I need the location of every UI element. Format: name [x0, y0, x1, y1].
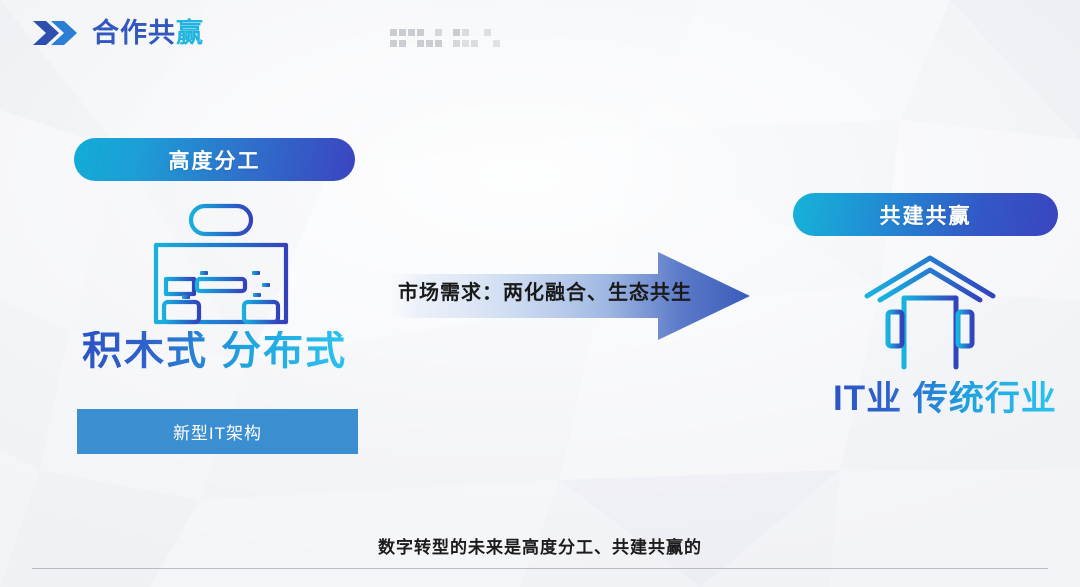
page-title: 合作共赢: [92, 20, 204, 47]
left-pill-badge[interactable]: 高度分工: [74, 138, 355, 181]
right-pill-badge[interactable]: 共建共赢: [793, 193, 1058, 236]
left-headline: 积木式 分布式: [82, 331, 347, 371]
right-headline: IT业 传统行业: [833, 381, 1057, 416]
left-architecture-badge[interactable]: 新型IT架构: [77, 409, 358, 454]
page-title-accent: 赢: [176, 18, 204, 48]
footer-divider: [32, 568, 1048, 569]
page-title-main: 合作共: [92, 18, 176, 48]
slide-canvas: 合作共赢 高度分: [0, 0, 1080, 587]
house-icon: [862, 254, 998, 372]
factory-building-icon: [148, 203, 294, 325]
footer-caption: 数字转型的未来是高度分工、共建共赢的: [0, 533, 1080, 558]
brand-lockup: 合作共赢: [32, 18, 204, 48]
pixel-dot-pattern-icon: [390, 29, 506, 49]
double-chevron-icon: [32, 18, 78, 48]
arrow-label: 市场需求：两化融合、生态共生: [398, 276, 692, 305]
slide-header: 合作共赢: [0, 0, 1080, 78]
